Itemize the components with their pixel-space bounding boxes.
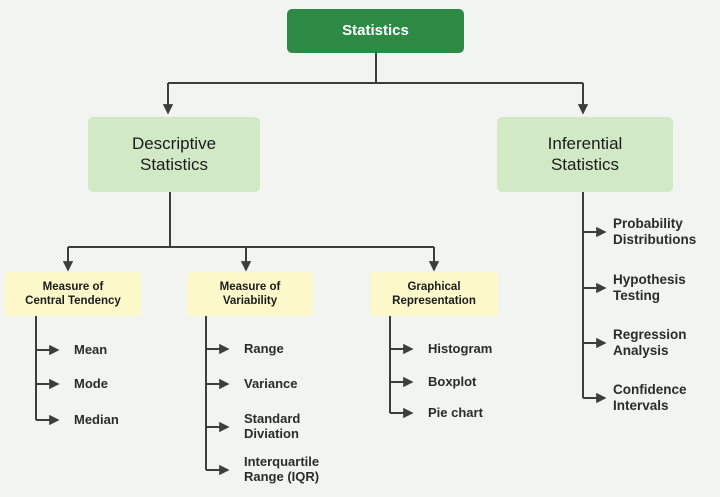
leaf-mode[interactable]: Mode (74, 376, 108, 391)
node-inferential-statistics-label-line2: Statistics (548, 155, 623, 176)
node-central-tendency-label-line1: Measure of (25, 280, 121, 294)
node-inferential-statistics[interactable]: Inferential Statistics (497, 117, 673, 192)
leaf-variance[interactable]: Variance (244, 376, 298, 391)
node-descriptive-statistics-label-line1: Descriptive (132, 134, 216, 155)
leaf-regression-analysis[interactable]: Regression Analysis (613, 327, 687, 359)
leaf-hypothesis-testing-label-line1: Hypothesis (613, 272, 686, 288)
leaf-interquartile-range-label-line2: Range (IQR) (244, 469, 319, 484)
leaf-mean-label: Mean (74, 342, 107, 357)
leaf-standard-deviation-label-line2: Diviation (244, 426, 300, 441)
leaf-interquartile-range[interactable]: Interquartile Range (IQR) (244, 454, 319, 485)
node-measure-of-variability[interactable]: Measure of Variability (187, 272, 313, 316)
leaf-variance-label: Variance (244, 376, 298, 391)
leaf-interquartile-range-label-line1: Interquartile (244, 454, 319, 469)
leaf-hypothesis-testing[interactable]: Hypothesis Testing (613, 272, 686, 304)
leaf-standard-deviation[interactable]: Standard Diviation (244, 411, 300, 442)
leaf-regression-analysis-label-line1: Regression (613, 327, 687, 343)
leaf-boxplot-label: Boxplot (428, 374, 476, 389)
leaf-confidence-intervals-label-line1: Confidence (613, 382, 687, 398)
node-measure-of-central-tendency[interactable]: Measure of Central Tendency (5, 272, 141, 316)
leaf-confidence-intervals-label-line2: Intervals (613, 398, 687, 414)
leaf-mode-label: Mode (74, 376, 108, 391)
node-statistics-label: Statistics (342, 22, 409, 40)
leaf-range-label: Range (244, 341, 284, 356)
leaf-standard-deviation-label-line1: Standard (244, 411, 300, 426)
leaf-range[interactable]: Range (244, 341, 284, 356)
leaf-boxplot[interactable]: Boxplot (428, 374, 476, 389)
leaf-confidence-intervals[interactable]: Confidence Intervals (613, 382, 687, 414)
leaf-mean[interactable]: Mean (74, 342, 107, 357)
leaf-probability-distributions-label-line1: Probability (613, 216, 696, 232)
node-variability-label-line1: Measure of (220, 280, 281, 294)
node-graphical-label-line1: Graphical (392, 280, 476, 294)
node-descriptive-statistics-label-line2: Statistics (132, 155, 216, 176)
leaf-histogram[interactable]: Histogram (428, 341, 492, 356)
leaf-median-label: Median (74, 412, 119, 427)
leaf-histogram-label: Histogram (428, 341, 492, 356)
statistics-hierarchy-diagram: Statistics Descriptive Statistics Infere… (0, 0, 720, 497)
leaf-probability-distributions-label-line2: Distributions (613, 232, 696, 248)
node-variability-label-line2: Variability (220, 294, 281, 308)
node-graphical-label-line2: Representation (392, 294, 476, 308)
leaf-pie-chart-label: Pie chart (428, 405, 483, 420)
node-graphical-representation[interactable]: Graphical Representation (370, 272, 498, 316)
node-statistics[interactable]: Statistics (287, 9, 464, 53)
leaf-pie-chart[interactable]: Pie chart (428, 405, 483, 420)
leaf-median[interactable]: Median (74, 412, 119, 427)
leaf-hypothesis-testing-label-line2: Testing (613, 288, 686, 304)
node-descriptive-statistics[interactable]: Descriptive Statistics (88, 117, 260, 192)
node-inferential-statistics-label-line1: Inferential (548, 134, 623, 155)
node-central-tendency-label-line2: Central Tendency (25, 294, 121, 308)
leaf-probability-distributions[interactable]: Probability Distributions (613, 216, 696, 248)
leaf-regression-analysis-label-line2: Analysis (613, 343, 687, 359)
